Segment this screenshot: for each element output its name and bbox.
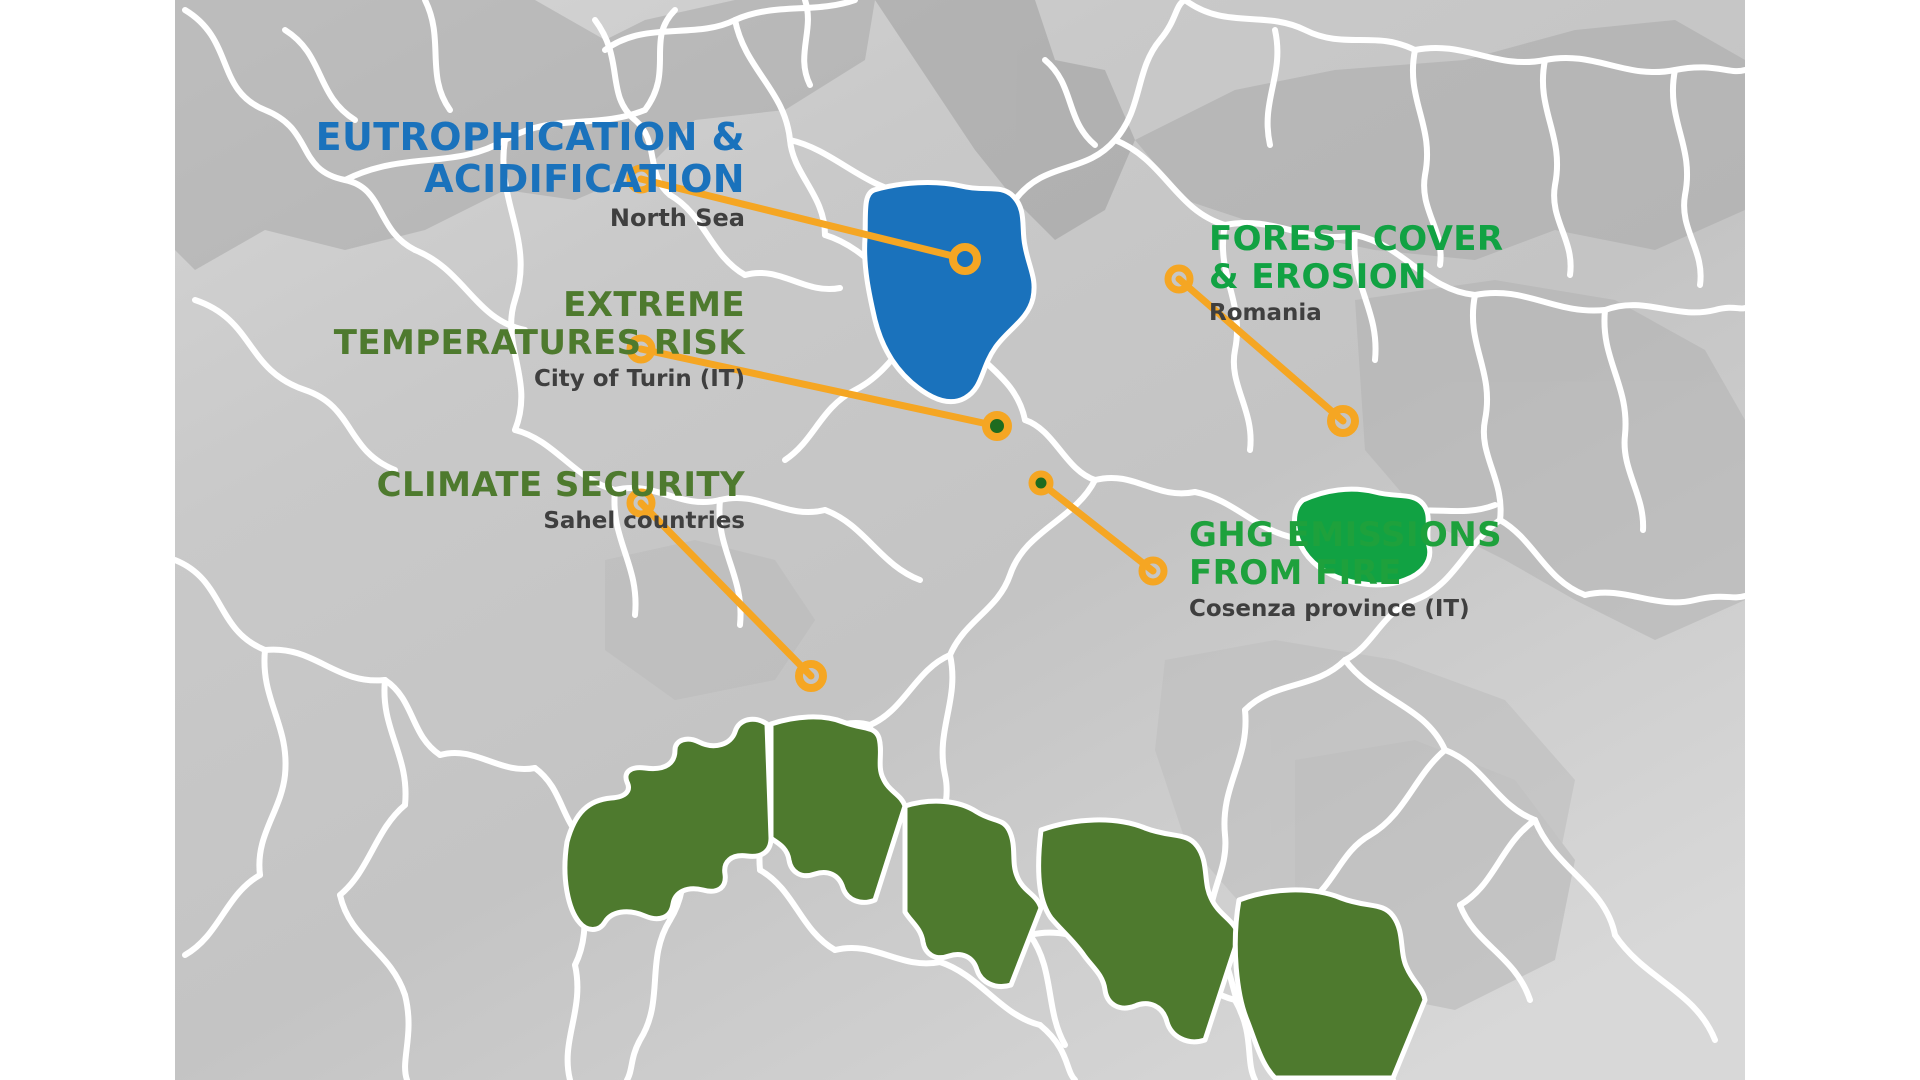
label-subtitle: Cosenza province (IT) [1189,598,1639,621]
label-title-line-2: & EROSION [1209,260,1639,294]
label-title-line-1: GHG EMISSIONS [1189,518,1639,552]
label-title-line-2: FROM FIRE [1189,556,1639,590]
label-subtitle: Sahel countries [185,510,745,533]
infographic-map-figure: EUTROPHICATION & ACIDIFICATION North Sea… [0,0,1920,1080]
marker-north-sea [953,247,977,271]
label-eutrophication-acidification: EUTROPHICATION & ACIDIFICATION North Sea [225,118,745,230]
marker-cosenza [1032,474,1050,492]
label-subtitle: North Sea [225,206,745,230]
label-title-line-1: EXTREME [185,288,745,322]
label-subtitle: City of Turin (IT) [185,368,745,391]
label-title-line-1: FOREST COVER [1209,222,1639,256]
label-title-line-1: EUTROPHICATION & [225,118,745,156]
label-title-line-1: CLIMATE SECURITY [185,468,745,502]
label-title-line-2: TEMPERATURES RISK [185,326,745,360]
map-canvas: EUTROPHICATION & ACIDIFICATION North Sea… [175,0,1745,1080]
label-climate-security: CLIMATE SECURITY Sahel countries [185,468,745,533]
label-extreme-temperatures-risk: EXTREME TEMPERATURES RISK City of Turin … [185,288,745,391]
label-ghg-emissions-from-fire: GHG EMISSIONS FROM FIRE Cosenza province… [1189,518,1639,621]
marker-turin [986,415,1008,437]
label-title-line-2: ACIDIFICATION [225,160,745,198]
label-forest-cover-erosion: FOREST COVER & EROSION Romania [1209,222,1639,325]
label-subtitle: Romania [1209,302,1639,325]
